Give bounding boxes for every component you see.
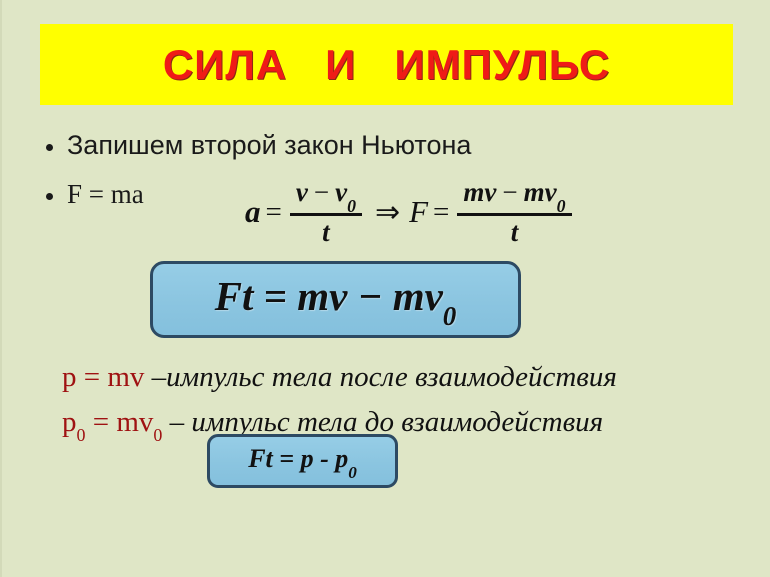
fraction-numerator: v−v0 <box>290 177 362 213</box>
numerator-mv0: mv <box>524 177 557 207</box>
implies-arrow-icon: ⇒ <box>375 195 400 230</box>
bullet-dot-icon <box>46 193 53 200</box>
definition-symbol-p: p = mv <box>62 361 152 393</box>
highlight-box-impulse-change: Ft = p - p0 <box>207 434 398 488</box>
definition-symbol-mv-subscript: 0 <box>153 425 162 445</box>
sub-formula-subscript: 0 <box>348 463 357 482</box>
highlight-box-formula-text: Ft = mv − mv0 <box>215 272 457 326</box>
equation-rhs-variable: F <box>409 194 428 230</box>
fraction-force: mv−mv0 t <box>457 177 571 248</box>
highlight-box-sub-formula-text: Ft = p - p0 <box>248 444 357 478</box>
definition-symbol-equals-mv: = mv <box>85 406 153 438</box>
slide-canvas: СИЛА И ИМПУЛЬС Запишем второй закон Ньют… <box>0 0 770 577</box>
bullet-item-1: Запишем второй закон Ньютона <box>46 131 471 161</box>
equation-lhs-variable: a <box>245 194 261 230</box>
definition-description-after: –импульс тела после взаимодействия <box>152 361 617 393</box>
bullet-dot-icon <box>46 144 53 151</box>
fraction-denominator: t <box>505 216 525 248</box>
bullet-item-2-label: F = ma <box>67 180 144 210</box>
bullet-item-2: F = ma <box>46 180 144 210</box>
equation-equals-sign-2: = <box>433 196 449 229</box>
formula-subscript: 0 <box>443 301 457 331</box>
definition-symbol-p0: p0 = mv0 <box>62 406 162 438</box>
equation-equals-sign: = <box>266 196 282 229</box>
bullet-item-1-label: Запишем второй закон Ньютона <box>67 131 471 161</box>
equation-derivation: a = v−v0 t ⇒ F = mv−mv0 t <box>245 177 575 248</box>
fraction-acceleration: v−v0 t <box>290 177 362 248</box>
definition-symbol-p-letter: p <box>62 406 77 438</box>
title-band: СИЛА И ИМПУЛЬС <box>40 24 733 105</box>
highlight-box-impulse-formula: Ft = mv − mv0 <box>150 261 521 338</box>
numerator-mv: mv <box>463 177 496 207</box>
definition-description-before: – импульс тела до взаимодействия <box>162 406 603 438</box>
fraction-denominator: t <box>316 216 336 248</box>
page-title: СИЛА И ИМПУЛЬС <box>163 44 610 86</box>
numerator-mv0-subscript: 0 <box>557 196 566 216</box>
numerator-minus: − <box>308 177 335 207</box>
numerator-v0-subscript: 0 <box>347 196 356 216</box>
numerator-v: v <box>296 177 308 207</box>
fraction-numerator: mv−mv0 <box>457 177 571 213</box>
numerator-minus: − <box>496 177 523 207</box>
sub-formula-body: Ft = p - p <box>248 444 348 473</box>
definition-symbol-p-subscript: 0 <box>77 425 86 445</box>
formula-body: Ft = mv − mv <box>215 273 443 319</box>
numerator-v0: v <box>335 177 347 207</box>
